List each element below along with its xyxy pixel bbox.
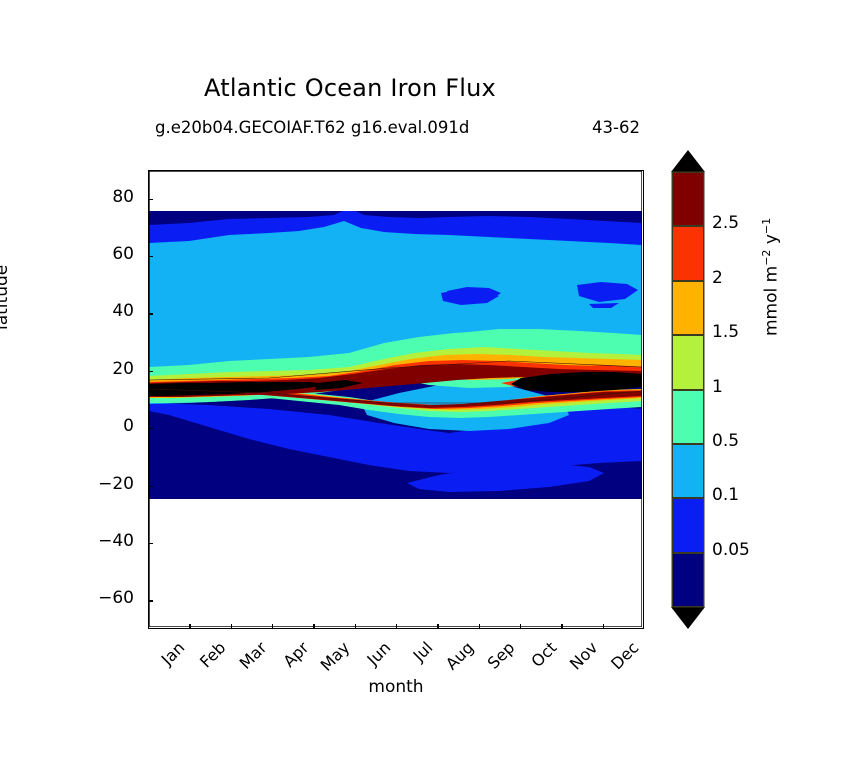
colorbar-tick-label: 1	[712, 377, 723, 397]
colorbar-band	[672, 390, 704, 444]
colorbar-band	[672, 498, 704, 552]
y-axis-title: latitude	[0, 265, 12, 330]
colorbar-tick-label: 0.1	[712, 485, 739, 505]
year-range-label: 43-62	[592, 118, 640, 137]
x-tick-mark	[231, 624, 232, 629]
y-tick-mark	[148, 600, 153, 601]
y-tick-label: 80	[74, 187, 134, 207]
colorbar-band	[672, 553, 704, 607]
colorbar-tick-label: 1.5	[712, 322, 739, 342]
x-tick-mark	[313, 624, 314, 629]
y-tick-mark	[148, 428, 153, 429]
x-tick-mark	[437, 624, 438, 629]
colorbar-band	[672, 172, 704, 226]
colorbar-tick-label: 0.05	[712, 540, 750, 560]
x-tick-mark	[272, 624, 273, 629]
x-tick-mark	[396, 624, 397, 629]
y-tick-mark	[148, 313, 153, 314]
y-tick-mark	[148, 199, 153, 200]
y-tick-label: 20	[74, 359, 134, 379]
y-tick-mark	[148, 371, 153, 372]
case-id-label: g.e20b04.GECOIAF.T62 g16.eval.091d	[155, 118, 469, 137]
x-tick-mark	[561, 624, 562, 629]
y-tick-mark	[148, 256, 153, 257]
colorbar-band	[672, 281, 704, 335]
y-tick-mark	[148, 543, 153, 544]
page-title: Atlantic Ocean Iron Flux	[0, 74, 700, 102]
x-tick-mark	[355, 624, 356, 629]
y-tick-label: 40	[74, 301, 134, 321]
colorbar-band	[672, 444, 704, 498]
colorbar-tick-label: 2.5	[712, 213, 739, 233]
y-tick-label: −60	[74, 588, 134, 608]
plot-area	[148, 170, 644, 629]
x-tick-mark	[603, 624, 604, 629]
colorbar-band	[672, 226, 704, 280]
y-tick-mark	[148, 486, 153, 487]
figure-root: Atlantic Ocean Iron Flux g.e20b04.GECOIA…	[0, 0, 863, 783]
y-tick-label: 0	[74, 416, 134, 436]
colorbar-band	[672, 335, 704, 389]
colorbar-unit-label: mmol m−2 y−1	[760, 218, 782, 336]
x-tick-mark	[189, 624, 190, 629]
contour-field	[149, 171, 642, 627]
y-tick-label: −40	[74, 531, 134, 551]
x-tick-mark	[479, 624, 480, 629]
y-tick-label: −20	[74, 474, 134, 494]
colorbar-tick-label: 2	[712, 268, 723, 288]
colorbar[interactable]: 2.521.510.50.10.05	[668, 148, 708, 631]
y-tick-label: 60	[74, 244, 134, 264]
colorbar-tick-label: 0.5	[712, 431, 739, 451]
x-tick-mark	[520, 624, 521, 629]
